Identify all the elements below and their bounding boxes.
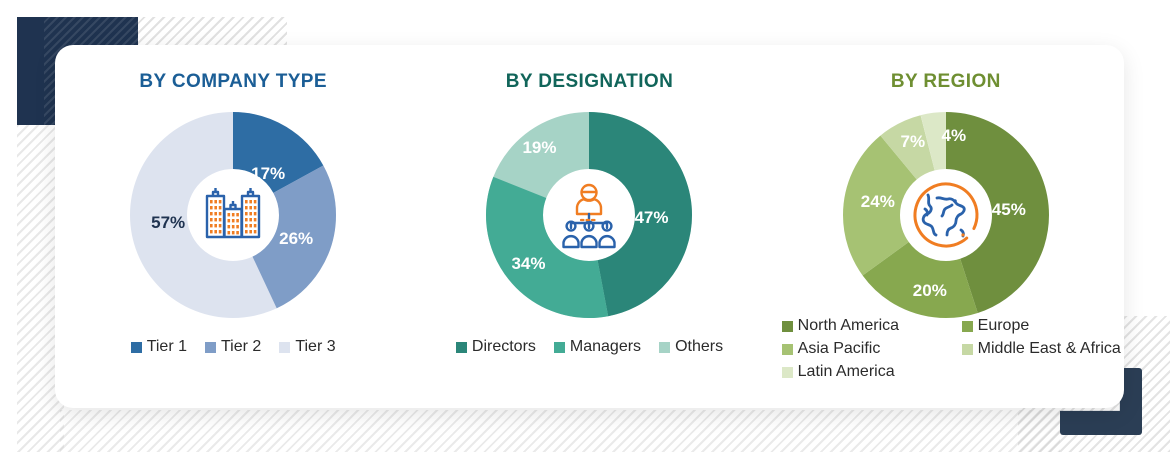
legend-item-north-america[interactable]: North America bbox=[782, 317, 952, 335]
legend-region: North America Europe Asia Pacific Middle… bbox=[782, 317, 1121, 381]
legend-label: Directors bbox=[472, 338, 536, 356]
donut-wrap-designation: 47% 34% 19% bbox=[411, 112, 767, 318]
decorative-stripes-bottom bbox=[60, 410, 1060, 452]
legend-label: Tier 3 bbox=[295, 338, 335, 356]
panel-title-company-type: BY COMPANY TYPE bbox=[55, 71, 411, 93]
chart-panels: BY COMPANY TYPE 17% 26% bbox=[55, 45, 1124, 408]
legend-label: Tier 2 bbox=[221, 338, 261, 356]
legend-item-asia-pacific[interactable]: Asia Pacific bbox=[782, 340, 952, 358]
legend-label: Latin America bbox=[798, 363, 895, 381]
legend-swatch-icon bbox=[962, 344, 973, 355]
legend-item-managers[interactable]: Managers bbox=[554, 338, 641, 356]
legend-designation: Directors Managers Others bbox=[411, 338, 767, 361]
legend-swatch-icon bbox=[456, 342, 467, 353]
legend-label: Asia Pacific bbox=[798, 340, 881, 358]
donut-wrap-company-type: 17% 26% 57% bbox=[55, 112, 411, 318]
legend-swatch-icon bbox=[782, 367, 793, 378]
legend-item-directors[interactable]: Directors bbox=[456, 338, 536, 356]
legend-swatch-icon bbox=[782, 321, 793, 332]
legend-swatch-icon bbox=[205, 342, 216, 353]
legend-item-latin-america[interactable]: Latin America bbox=[782, 363, 952, 381]
legend-item-tier-2[interactable]: Tier 2 bbox=[205, 338, 261, 356]
legend-item-tier-1[interactable]: Tier 1 bbox=[131, 338, 187, 356]
legend-label: Managers bbox=[570, 338, 641, 356]
legend-company-type: Tier 1 Tier 2 Tier 3 bbox=[55, 338, 411, 361]
legend-item-europe[interactable]: Europe bbox=[962, 317, 1121, 335]
panel-title-designation: BY DESIGNATION bbox=[411, 71, 767, 93]
donut-wrap-region: 45% 20% 24% 7% 4% bbox=[768, 112, 1124, 318]
panel-title-region: BY REGION bbox=[768, 71, 1124, 93]
chart-card: BY COMPANY TYPE 17% 26% bbox=[55, 45, 1124, 408]
legend-swatch-icon bbox=[659, 342, 670, 353]
legend-label: Tier 1 bbox=[147, 338, 187, 356]
infographic-screen: BY COMPANY TYPE 17% 26% bbox=[0, 0, 1170, 452]
panel-by-region: BY REGION 45% bbox=[768, 45, 1124, 408]
legend-label: Others bbox=[675, 338, 723, 356]
legend-label: North America bbox=[798, 317, 899, 335]
legend-swatch-icon bbox=[554, 342, 565, 353]
donut-chart-designation: 47% 34% 19% bbox=[486, 112, 692, 318]
legend-swatch-icon bbox=[279, 342, 290, 353]
legend-item-tier-3[interactable]: Tier 3 bbox=[279, 338, 335, 356]
legend-swatch-icon bbox=[131, 342, 142, 353]
legend-label: Europe bbox=[978, 317, 1030, 335]
legend-item-middle-east-africa[interactable]: Middle East & Africa bbox=[962, 340, 1121, 358]
panel-by-designation: BY DESIGNATION 47% 34% 19% bbox=[411, 45, 767, 408]
legend-label: Middle East & Africa bbox=[978, 340, 1121, 358]
legend-swatch-icon bbox=[782, 344, 793, 355]
legend-swatch-icon bbox=[962, 321, 973, 332]
legend-item-others[interactable]: Others bbox=[659, 338, 723, 356]
donut-chart-region: 45% 20% 24% 7% 4% bbox=[843, 112, 1049, 318]
panel-by-company-type: BY COMPANY TYPE 17% 26% bbox=[55, 45, 411, 408]
donut-chart-company-type: 17% 26% 57% bbox=[130, 112, 336, 318]
